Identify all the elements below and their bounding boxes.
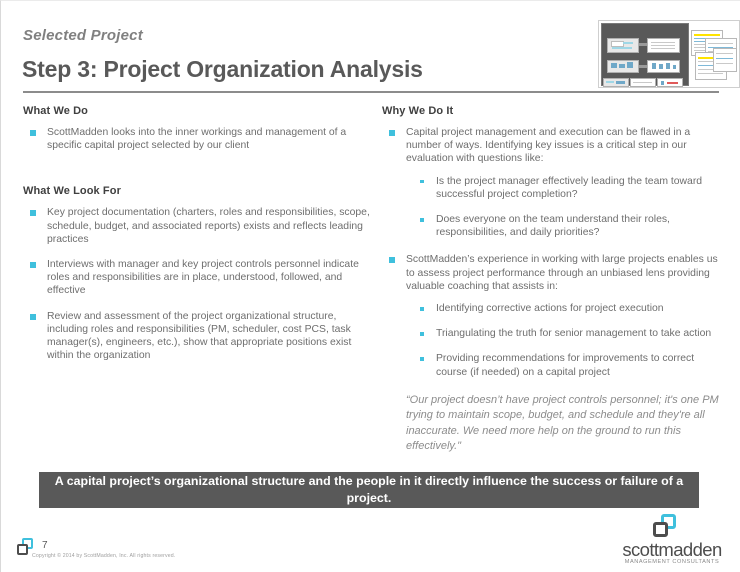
brand-name: scottmadden [613, 539, 731, 561]
key-message-banner: A capital project’s organizational struc… [39, 472, 699, 508]
sub-list-item: Is the project manager effectively leadi… [406, 175, 727, 201]
why-we-do-it-list: Capital project management and execution… [382, 126, 727, 379]
brand-tagline: MANAGEMENT CONSULTANTS [613, 559, 731, 565]
eyebrow-label: Selected Project [23, 27, 143, 44]
list-item: Review and assessment of the project org… [23, 310, 373, 363]
thumb-step4-box [647, 60, 680, 73]
list-item: ScottMadden looks into the inner working… [23, 126, 373, 152]
list-item-text: Capital project management and execution… [406, 127, 690, 164]
logo-square-gray-icon [17, 544, 28, 555]
section-heading-what-we-look-for: What We Look For [23, 185, 373, 197]
brand-logo-icon [653, 514, 681, 538]
section-heading-why-we-do-it: Why We Do It [382, 105, 727, 117]
thumbnail-pmo-panel [601, 23, 689, 86]
what-we-do-list: ScottMadden looks into the inner working… [23, 126, 373, 152]
left-column: What We Do ScottMadden looks into the in… [23, 105, 373, 374]
brand-logo: scottmadden MANAGEMENT CONSULTANTS [613, 514, 731, 566]
sub-list: Identifying corrective actions for proje… [406, 302, 727, 379]
list-item-text: ScottMadden’s experience in working with… [406, 254, 718, 291]
what-we-look-for-list: Key project documentation (charters, rol… [23, 206, 373, 362]
customer-quote: “Our project doesn’t have project contro… [382, 393, 727, 455]
sub-list-item: Identifying corrective actions for proje… [406, 302, 727, 315]
thumb-step1-box [607, 38, 639, 53]
thumb-arrow-right [639, 43, 647, 46]
sub-list-item: Triangulating the truth for senior manag… [406, 327, 727, 340]
section-heading-what-we-do: What We Do [23, 105, 373, 117]
list-item: Key project documentation (charters, rol… [23, 206, 373, 246]
sub-list-item: Providing recommendations for improvemen… [406, 352, 727, 378]
slide: Selected Project Step 3: Project Organiz… [0, 0, 740, 572]
thumb-deliverable-documents [691, 24, 736, 83]
sub-list-item: Does everyone on the team understand the… [406, 213, 727, 239]
thumb-arrow-right-2 [639, 65, 647, 68]
copyright-notice: Copyright © 2014 by ScottMadden, Inc. Al… [32, 553, 175, 559]
list-item: ScottMadden’s experience in working with… [382, 253, 727, 378]
title-divider [23, 91, 719, 93]
thumb-step5-box3 [657, 78, 683, 87]
thumb-step3-box [647, 38, 680, 53]
brand-square-gray-icon [653, 522, 668, 537]
page-title: Step 3: Project Organization Analysis [22, 56, 423, 83]
slide-header: Selected Project Step 3: Project Organiz… [1, 1, 740, 97]
page-number: 7 [42, 540, 48, 551]
process-overview-thumbnail [598, 20, 740, 88]
thumb-step2-box [607, 60, 639, 73]
right-column: Why We Do It Capital project management … [382, 105, 727, 455]
list-item: Capital project management and execution… [382, 126, 727, 239]
list-item: Interviews with manager and key project … [23, 258, 373, 298]
sub-list: Is the project manager effectively leadi… [406, 175, 727, 240]
thumb-step5-box2 [630, 78, 656, 87]
thumb-step5-box1 [603, 78, 629, 87]
